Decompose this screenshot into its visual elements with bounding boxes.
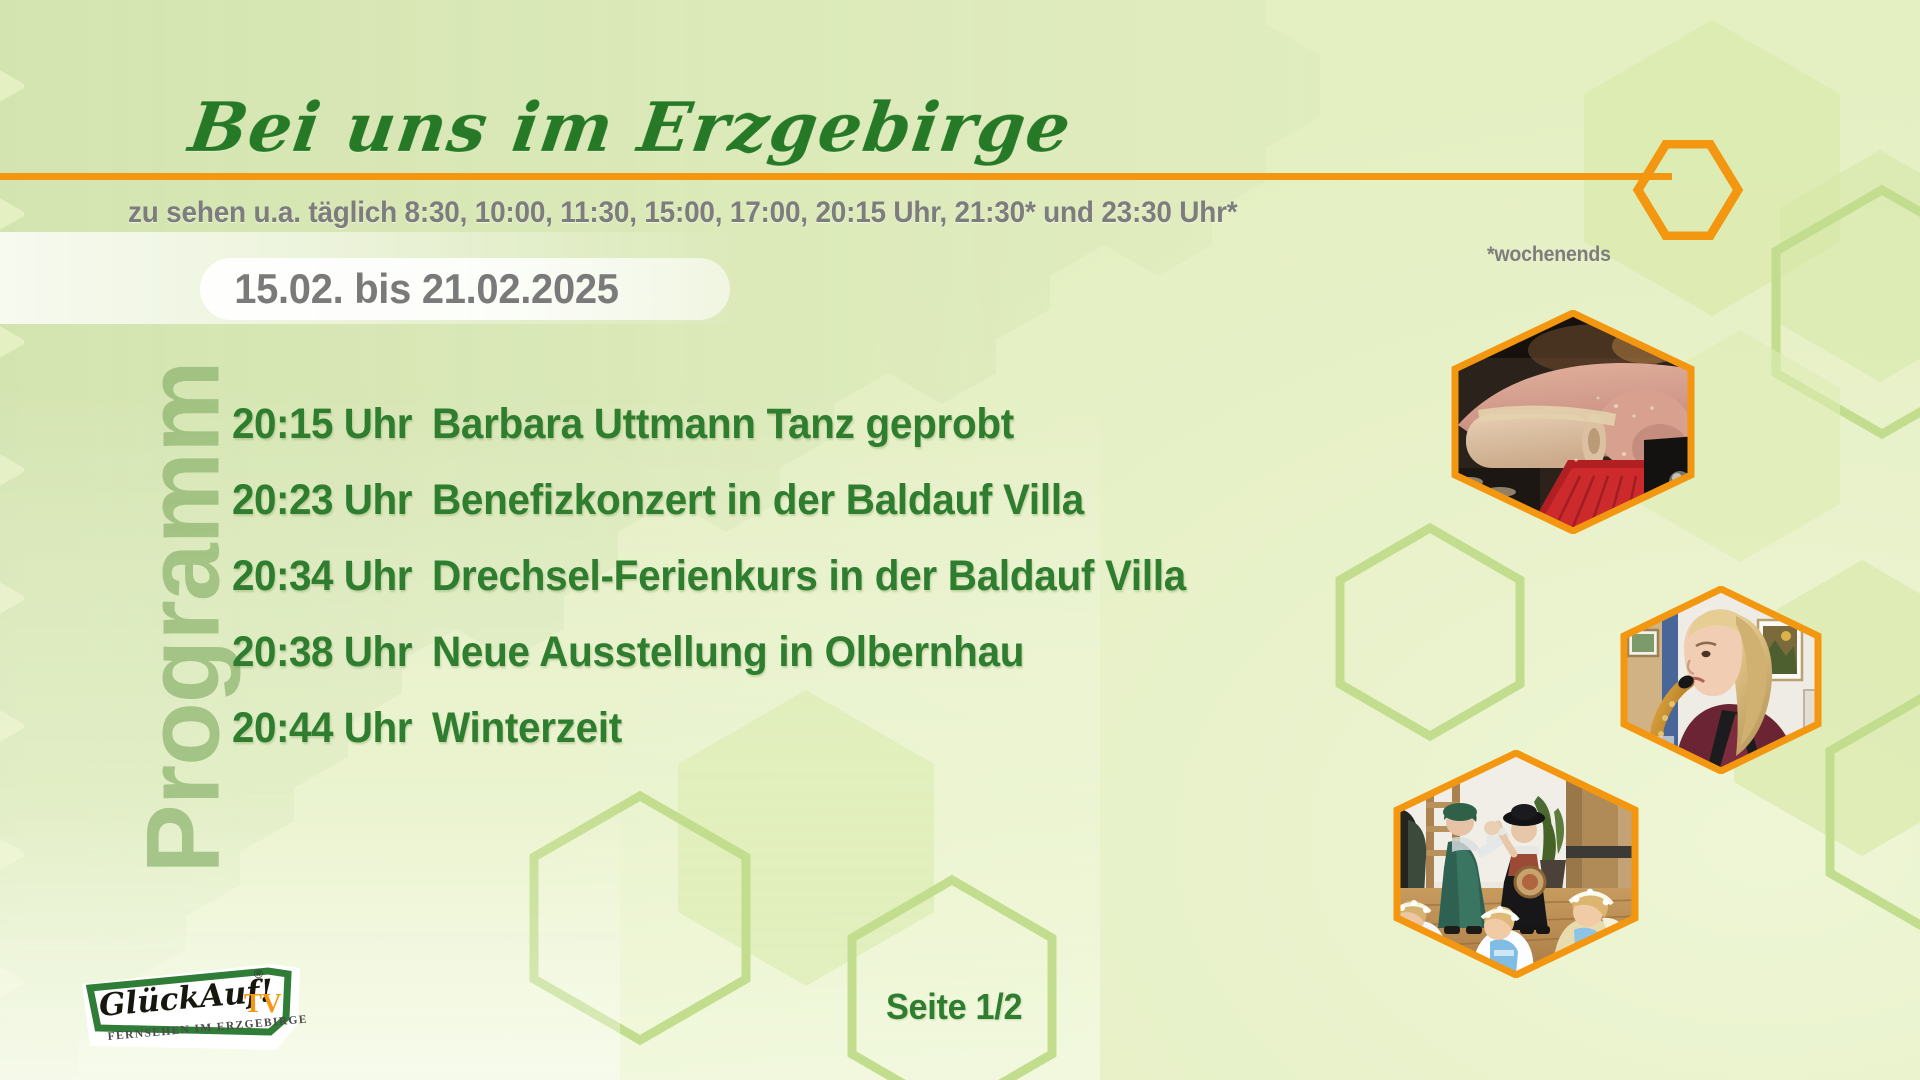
program-title: Neue Ausstellung in Olbernhau (432, 628, 1024, 677)
program-time: 20:38 Uhr (232, 628, 420, 677)
program-time: 20:15 Uhr (232, 400, 420, 449)
photo-woodturning-lathe (1448, 310, 1698, 534)
program-title: Barbara Uttmann Tanz geprobt (432, 400, 1014, 449)
photo-historical-dance (1390, 750, 1642, 978)
page-indicator: Seite 1/2 (886, 986, 1022, 1028)
orange-accent-rule (0, 173, 1672, 180)
program-title: Winterzeit (432, 704, 622, 753)
program-title: Drechsel-Ferienkurs in der Baldauf Villa (432, 552, 1186, 601)
broadcast-schedule-text: zu sehen u.a. täglich 8:30, 10:00, 11:30… (128, 196, 1237, 230)
program-row: 20:23 Uhr Benefizkonzert in der Baldauf … (232, 476, 1352, 552)
program-time: 20:23 Uhr (232, 476, 420, 525)
date-range-pill: 15.02. bis 21.02.2025 (200, 258, 730, 320)
photo-saxophone-player (1618, 586, 1824, 774)
glueckauf-tv-logo: GlückAuf! TV ® FERNSEHEN IM ERZGEBIRGE (76, 962, 306, 1054)
orange-hexagon-icon (1632, 140, 1744, 240)
program-row: 20:38 Uhr Neue Ausstellung in Olbernhau (232, 628, 1352, 704)
program-row: 20:15 Uhr Barbara Uttmann Tanz geprobt (232, 400, 1352, 476)
schedule-footnote: *wochenends (1487, 243, 1611, 267)
program-list: 20:15 Uhr Barbara Uttmann Tanz geprobt 2… (232, 400, 1352, 780)
broadcast-slide: Bei uns im Erzgebirge zu sehen u.a. tägl… (0, 0, 1920, 1080)
program-time: 20:34 Uhr (232, 552, 420, 601)
logo-suffix-text: TV (244, 988, 282, 1018)
program-row: 20:34 Uhr Drechsel-Ferienkurs in der Bal… (232, 552, 1352, 628)
logo-registered-mark: ® (254, 967, 263, 981)
page-title: Bei uns im Erzgebirge (184, 88, 1076, 168)
program-row: 20:44 Uhr Winterzeit (232, 704, 1352, 780)
program-time: 20:44 Uhr (232, 704, 420, 753)
program-title: Benefizkonzert in der Baldauf Villa (432, 476, 1084, 525)
date-range-label: 15.02. bis 21.02.2025 (200, 265, 619, 313)
